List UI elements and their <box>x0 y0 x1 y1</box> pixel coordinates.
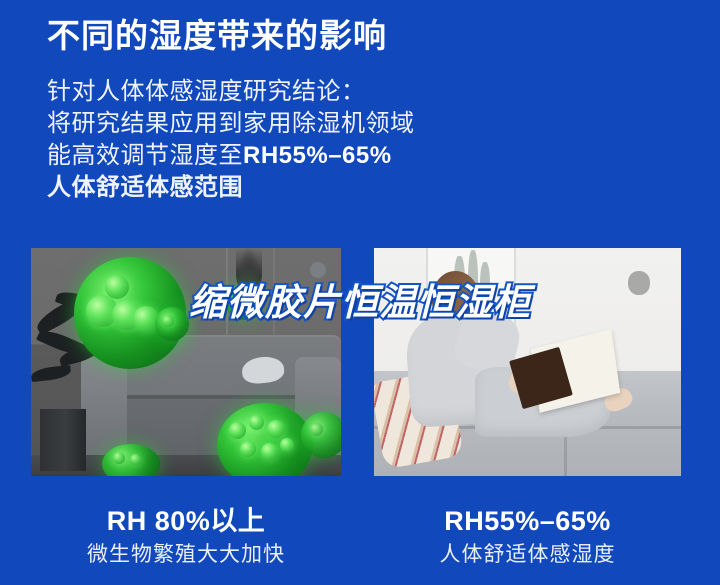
overlay-banner-title: 缩微胶片恒温恒湿柜 <box>0 272 720 326</box>
plant-pot-icon <box>40 409 86 471</box>
intro-line-2: 将研究结果应用到家用除湿机领域 <box>47 108 477 140</box>
caption-comfort-humidity: RH55%–65% 人体舒适体感湿度 <box>374 505 681 568</box>
intro-line-4: 人体舒适体感范围 <box>47 172 477 204</box>
intro-line-3-range: RH55%–65% <box>243 142 392 169</box>
intro-line-1: 针对人体体感湿度研究结论： <box>47 76 477 108</box>
caption-high-humidity-desc: 微生物繁殖大大加快 <box>31 542 341 568</box>
caption-comfort-humidity-value: RH55%–65% <box>374 505 681 537</box>
microbe-sphere-icon <box>301 412 341 458</box>
intro-line-3: 能高效调节湿度至RH55%–65% <box>47 140 477 172</box>
caption-comfort-humidity-desc: 人体舒适体感湿度 <box>374 542 681 568</box>
poster-root: 不同的湿度带来的影响 针对人体体感湿度研究结论： 将研究结果应用到家用除湿机领域… <box>0 0 720 585</box>
caption-high-humidity: RH 80%以上 微生物繁殖大大加快 <box>31 505 341 568</box>
intro-text-block: 针对人体体感湿度研究结论： 将研究结果应用到家用除湿机领域 能高效调节湿度至RH… <box>47 76 477 204</box>
plant-leaf-icon <box>31 364 72 381</box>
caption-high-humidity-value: RH 80%以上 <box>31 505 341 537</box>
page-title: 不同的湿度带来的影响 <box>47 14 387 58</box>
intro-line-3-normal: 能高效调节湿度至 <box>47 142 243 169</box>
